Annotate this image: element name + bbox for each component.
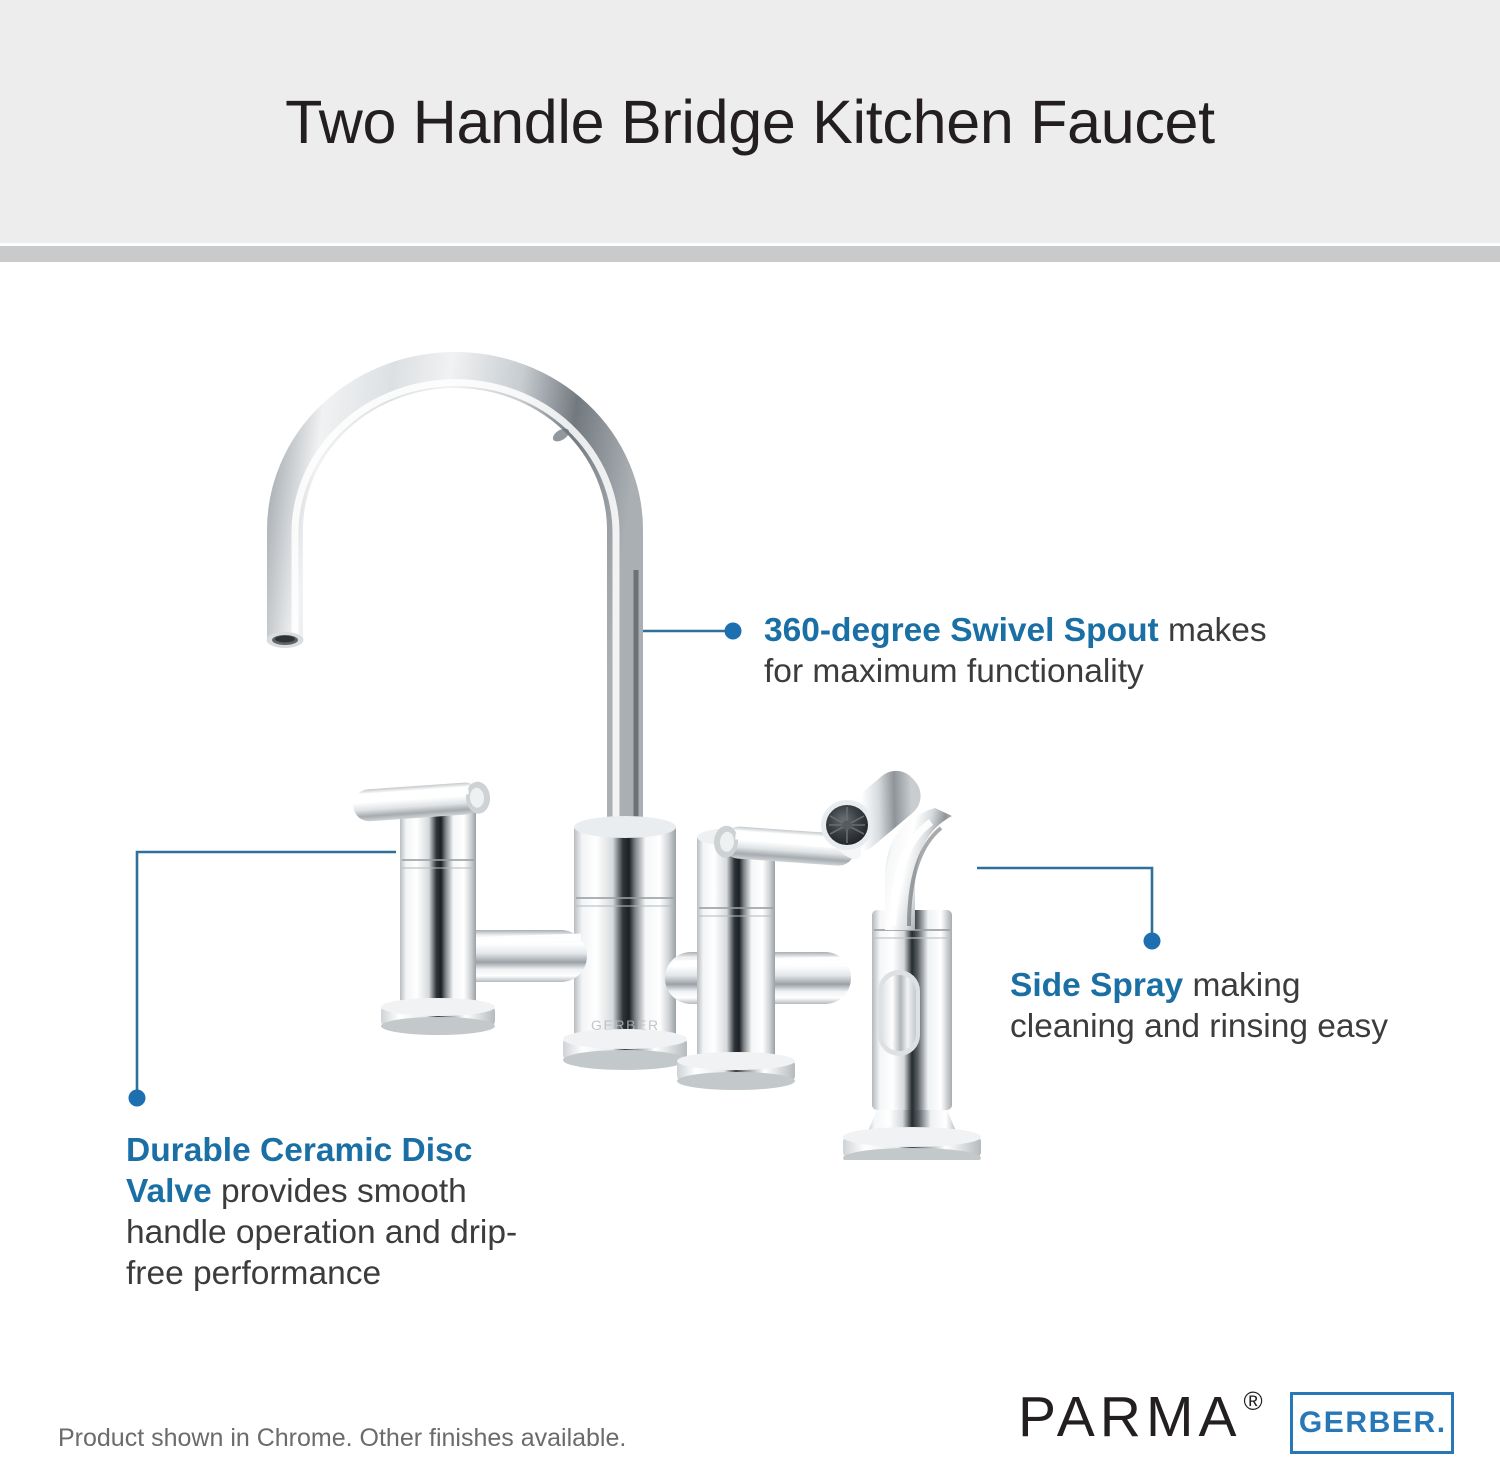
parma-wordmark: PARMA bbox=[1018, 1385, 1241, 1449]
gerber-logo-dot: . bbox=[1437, 1406, 1445, 1440]
callout-heading: 360-degree Swivel Spout bbox=[764, 612, 1159, 649]
callout-text: 360-degree Swivel Spout makes for maximu… bbox=[764, 610, 1284, 692]
handle-post-left bbox=[381, 785, 495, 1035]
callout-text: Durable Ceramic Disc Valve provides smoo… bbox=[126, 1130, 566, 1294]
gerber-logo: GERBER. bbox=[1290, 1392, 1454, 1454]
finish-disclaimer: Product shown in Chrome. Other finishes … bbox=[58, 1424, 626, 1453]
callout-heading: Side Spray bbox=[1010, 967, 1183, 1004]
leader-dot-icon bbox=[1144, 933, 1161, 950]
spray-head-icon bbox=[821, 800, 873, 850]
callout-side-spray: Side Spray making cleaning and rinsing e… bbox=[1010, 965, 1410, 1047]
header-divider bbox=[0, 246, 1500, 262]
leader-dot-icon bbox=[129, 1090, 146, 1107]
callout-text: Side Spray making cleaning and rinsing e… bbox=[1010, 965, 1410, 1047]
page-title: Two Handle Bridge Kitchen Faucet bbox=[0, 0, 1500, 243]
parma-logo: PARMA® bbox=[1018, 1384, 1261, 1450]
callout-ceramic-disc-valve: Durable Ceramic Disc Valve provides smoo… bbox=[126, 1130, 566, 1294]
spout-tip bbox=[267, 632, 304, 648]
callout-swivel-spout: 360-degree Swivel Spout makes for maximu… bbox=[764, 610, 1284, 692]
registered-trademark-icon: ® bbox=[1243, 1386, 1262, 1416]
product-image-faucet: GERBER bbox=[225, 330, 1025, 1160]
infographic-page: Two Handle Bridge Kitchen Faucet bbox=[0, 0, 1500, 1477]
gerber-wordmark: GERBER bbox=[1299, 1406, 1437, 1440]
spray-trigger-button bbox=[878, 970, 920, 1056]
